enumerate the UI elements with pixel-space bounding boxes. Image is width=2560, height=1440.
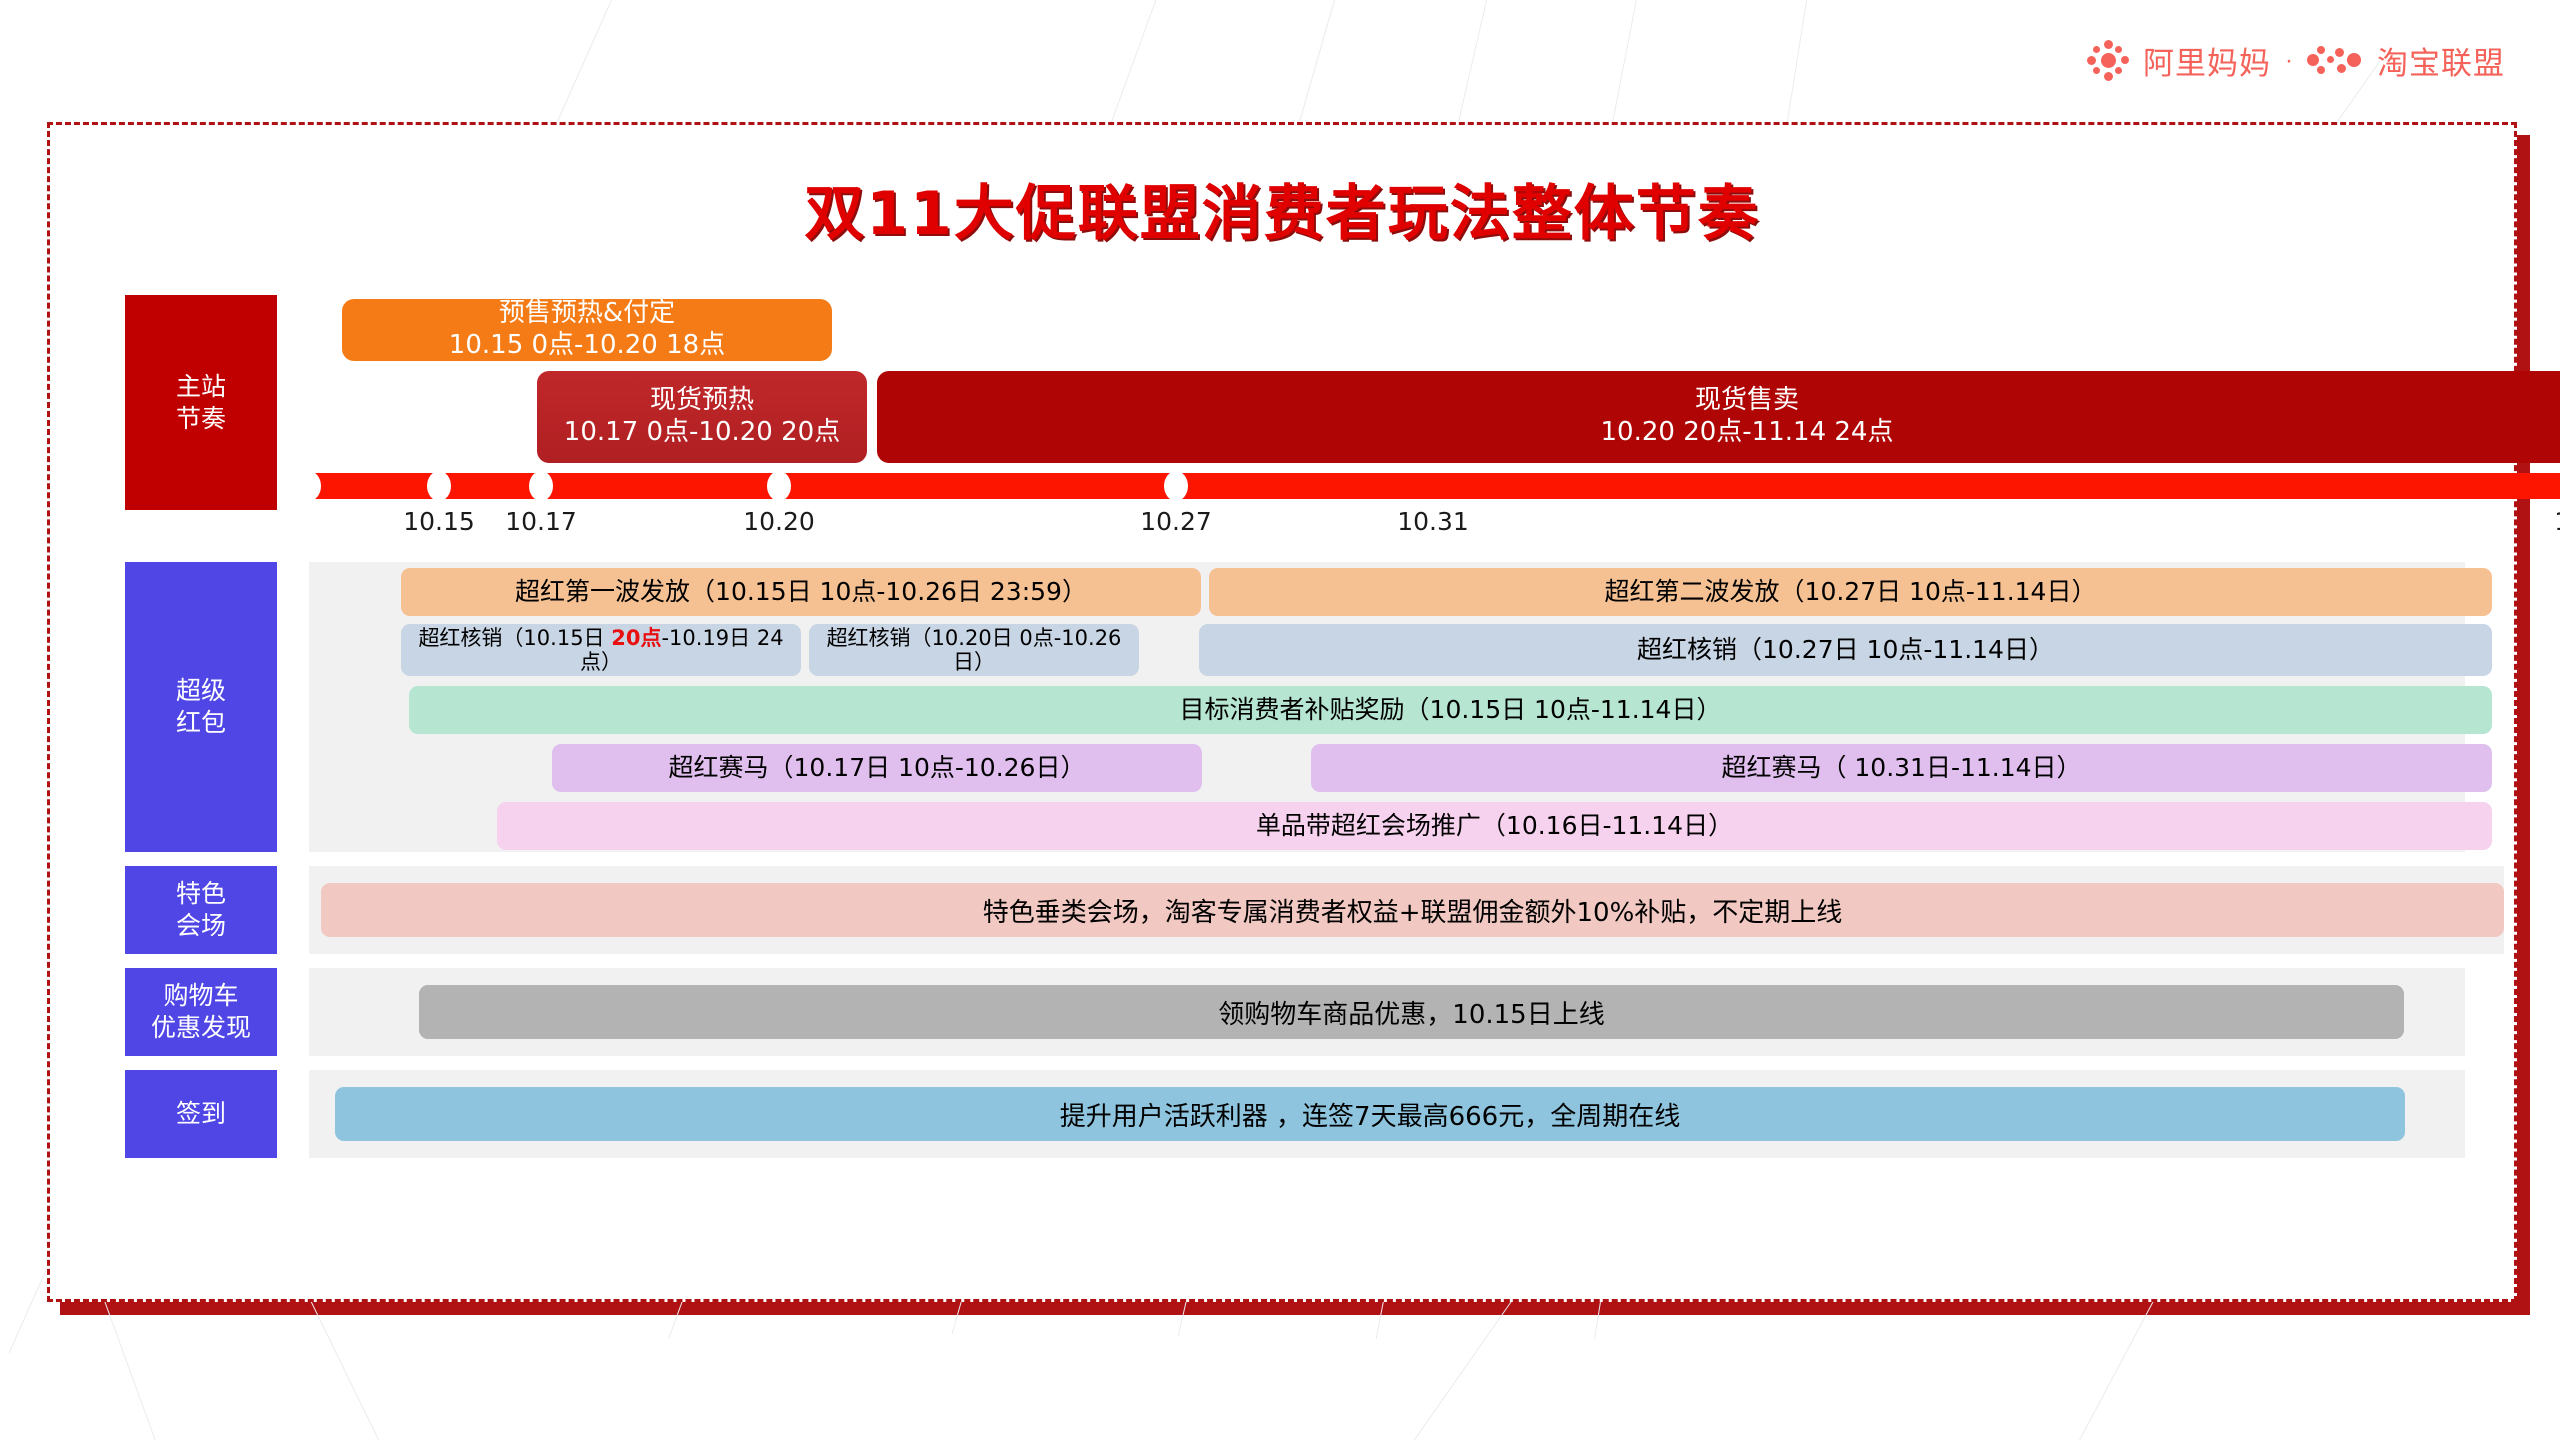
row-label-line1: 主站: [176, 371, 226, 403]
bar-super-red-race-2[interactable]: 超红赛马（ 10.31日-11.14日）: [1311, 744, 2492, 792]
row-body-featured-venue: 特色垂类会场，淘客专属消费者权益+联盟佣金额外10%补贴，不定期上线: [309, 866, 2504, 954]
row-label-main-site-rhythm: 主站 节奏: [125, 295, 277, 510]
taobao-union-brand-label: 淘宝联盟: [2377, 38, 2505, 83]
row-body-check-in: 提升用户活跃利器 ，连签7天最高666元，全周期在线: [309, 1070, 2465, 1158]
timeline-tick-3[interactable]: [767, 471, 791, 501]
row-label-line1: 超级: [176, 675, 226, 707]
bar-super-red-race-1[interactable]: 超红赛马（10.17日 10点-10.26日）: [552, 744, 1202, 792]
bar-super-red-verify-2[interactable]: 超红核销（10.20日 0点-10.26日）: [809, 624, 1139, 676]
row-label-line2: 节奏: [176, 403, 226, 435]
timeline-tick-5[interactable]: [297, 471, 321, 501]
page-title: 双11大促联盟消费者玩法整体节奏: [50, 165, 2514, 252]
timeline-tick-label-5: 10.31: [1397, 507, 1469, 536]
alimama-brand-label: 阿里妈妈: [2143, 38, 2271, 83]
content-frame: 双11大促联盟消费者玩法整体节奏 主站 节奏 预售预热&付定 10.15 0点-…: [47, 122, 2517, 1302]
row-body-cart-discount-discovery: 领购物车商品优惠，10.15日上线: [309, 968, 2465, 1056]
bar-presale-warmup[interactable]: 预售预热&付定 10.15 0点-10.20 18点: [342, 299, 832, 361]
bar-target-consumer-subsidy[interactable]: 目标消费者补贴奖励（10.15日 10点-11.14日）: [409, 686, 2492, 734]
row-label-super-red-packet: 超级 红包: [125, 562, 277, 852]
row-label-line2: 会场: [176, 910, 226, 942]
timeline-axis: 10.15 10.17 10.20 10.27 10.31 11.14: [309, 473, 2560, 499]
row-label-line2: 红包: [176, 707, 226, 739]
taobao-union-logo-icon: [2307, 44, 2363, 78]
row-label-line1: 购物车: [151, 980, 251, 1012]
bar-super-red-verify-1[interactable]: 超红核销（10.15日 20点-10.19日 24点）: [401, 624, 801, 676]
timeline-tick-label-3: 10.20: [743, 507, 815, 536]
timeline-tick-1[interactable]: [427, 471, 451, 501]
verify-1-highlight: 20点: [611, 626, 661, 650]
alimama-logo-icon: [2087, 40, 2129, 82]
bar-featured-venue[interactable]: 特色垂类会场，淘客专属消费者权益+联盟佣金额外10%补贴，不定期上线: [321, 883, 2504, 937]
timeline-chart: 主站 节奏 预售预热&付定 10.15 0点-10.20 18点 现货预热 10…: [125, 295, 2465, 1164]
verify-2-text: 超红核销（10.20日 0点-10.26日）: [817, 626, 1131, 674]
row-cart-discount-discovery: 购物车 优惠发现 领购物车商品优惠，10.15日上线: [125, 968, 2465, 1056]
bar-instock-sale-subtitle: 10.20 20点-11.14 24点: [1601, 417, 1894, 449]
row-body-main-site-rhythm: 预售预热&付定 10.15 0点-10.20 18点 现货预热 10.17 0点…: [309, 295, 2465, 510]
bar-item-venue-promo[interactable]: 单品带超红会场推广（10.16日-11.14日）: [497, 802, 2492, 850]
bar-presale-warmup-title: 预售预热&付定: [499, 298, 675, 330]
row-label-line1: 签到: [176, 1098, 226, 1130]
bar-instock-sale[interactable]: 现货售卖 10.20 20点-11.14 24点: [877, 371, 2560, 463]
bar-super-red-verify-3[interactable]: 超红核销（10.27日 10点-11.14日）: [1199, 624, 2492, 676]
verify-1-prefix: 超红核销（10.15日: [418, 626, 611, 650]
row-body-super-red-packet: 超红第一波发放（10.15日 10点-10.26日 23:59） 超红第二波发放…: [309, 562, 2465, 852]
brand-separator: ·: [2285, 47, 2293, 75]
row-featured-venue: 特色 会场 特色垂类会场，淘客专属消费者权益+联盟佣金额外10%补贴，不定期上线: [125, 866, 2465, 954]
timeline-tick-2[interactable]: [529, 471, 553, 501]
row-label-check-in: 签到: [125, 1070, 277, 1158]
row-label-line2: 优惠发现: [151, 1012, 251, 1044]
timeline-tick-4[interactable]: [1164, 471, 1188, 501]
bar-super-red-wave1[interactable]: 超红第一波发放（10.15日 10点-10.26日 23:59）: [401, 568, 1201, 616]
row-main-site-rhythm: 主站 节奏 预售预热&付定 10.15 0点-10.20 18点 现货预热 10…: [125, 295, 2465, 510]
bar-cart-discount-discovery[interactable]: 领购物车商品优惠，10.15日上线: [419, 985, 2404, 1039]
bar-presale-warmup-subtitle: 10.15 0点-10.20 18点: [449, 330, 725, 362]
timeline-tick-label-2: 10.17: [505, 507, 577, 536]
timeline-tick-label-4: 10.27: [1140, 507, 1212, 536]
timeline-tick-label-6: 11.14: [2554, 507, 2560, 536]
row-label-featured-venue: 特色 会场: [125, 866, 277, 954]
bar-instock-warmup-subtitle: 10.17 0点-10.20 20点: [564, 417, 840, 449]
row-check-in: 签到 提升用户活跃利器 ，连签7天最高666元，全周期在线: [125, 1070, 2465, 1158]
row-super-red-packet: 超级 红包 超红第一波发放（10.15日 10点-10.26日 23:59） 超…: [125, 562, 2465, 852]
bar-check-in[interactable]: 提升用户活跃利器 ，连签7天最高666元，全周期在线: [335, 1087, 2405, 1141]
bar-instock-warmup-title: 现货预热: [650, 385, 754, 417]
row-label-line1: 特色: [176, 878, 226, 910]
timeline-tick-label-1: 10.15: [403, 507, 475, 536]
bar-super-red-wave2[interactable]: 超红第二波发放（10.27日 10点-11.14日）: [1209, 568, 2492, 616]
bar-instock-warmup[interactable]: 现货预热 10.17 0点-10.20 20点: [537, 371, 867, 463]
brand-logo-bar: 阿里妈妈 · 淘宝联盟: [2087, 38, 2505, 83]
row-label-cart-discount-discovery: 购物车 优惠发现: [125, 968, 277, 1056]
bar-instock-sale-title: 现货售卖: [1695, 385, 1799, 417]
